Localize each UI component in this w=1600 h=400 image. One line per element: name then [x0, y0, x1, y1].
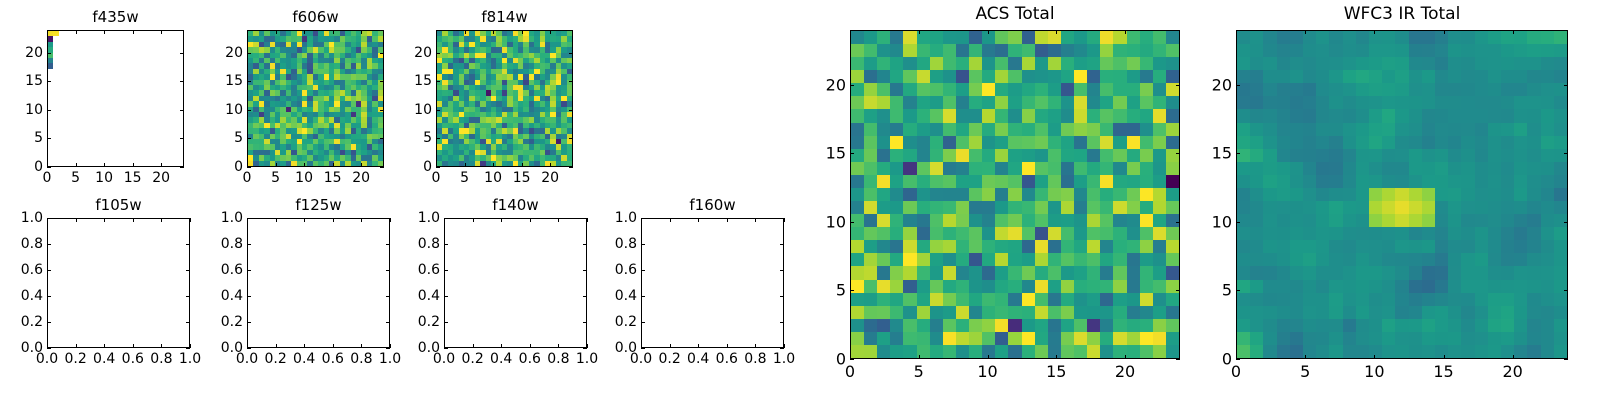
heat-cell [1435, 162, 1448, 175]
heat-cell [1087, 188, 1100, 201]
heat-cell [1061, 31, 1074, 44]
y-tick-mark-right [386, 244, 390, 245]
heat-cell [1527, 266, 1540, 279]
heat-cell [864, 227, 877, 240]
heat-cell [1035, 293, 1048, 306]
y-tick-mark-right [1564, 290, 1568, 291]
heat-cell [943, 175, 956, 188]
heat-cell [1329, 306, 1342, 319]
heat-cell [1303, 306, 1316, 319]
heat-cell [1382, 31, 1395, 44]
x-tick-mark-top [850, 30, 851, 34]
y-tick-mark [444, 244, 448, 245]
heat-cell [1074, 123, 1087, 136]
x-tick-mark [1374, 355, 1375, 359]
heat-cell [1303, 188, 1316, 201]
heat-cell [1448, 188, 1461, 201]
heat-cell [1061, 266, 1074, 279]
heat-cell [1356, 149, 1369, 162]
heat-cell [982, 175, 995, 188]
heat-cell [1409, 214, 1422, 227]
heat-cell [1263, 136, 1276, 149]
heat-cell [1554, 201, 1567, 214]
y-tick-mark [641, 244, 645, 245]
heat-cell [1008, 227, 1021, 240]
heat-cell [1369, 123, 1382, 136]
heat-cell [956, 149, 969, 162]
heat-cell [1166, 227, 1179, 240]
heat-cell [1382, 83, 1395, 96]
heat-cell [1514, 319, 1527, 332]
y-tick-label: 0.0 [21, 340, 43, 356]
heat-cell [1461, 136, 1474, 149]
heat-cell [982, 70, 995, 83]
heat-cell [1100, 188, 1113, 201]
x-tick-mark [133, 344, 134, 348]
heat-cell [930, 175, 943, 188]
heat-cell [1303, 109, 1316, 122]
axes-f814w[interactable] [436, 30, 573, 167]
panel-f160w: f160w 0.00.20.40.60.81.00.00.20.40.60.81… [641, 196, 784, 376]
heat-cell [1113, 188, 1126, 201]
heat-cell [1435, 240, 1448, 253]
y-tick-label: 0.4 [418, 288, 440, 304]
y-tick-label: 0 [234, 159, 243, 175]
heat-cell [1475, 319, 1488, 332]
y-tick-label: 5 [423, 130, 432, 146]
heat-cell [1356, 201, 1369, 214]
heat-cell [1250, 44, 1263, 57]
heat-cell [1501, 136, 1514, 149]
heat-cell [982, 227, 995, 240]
heat-cell [930, 31, 943, 44]
heat-cell [1369, 175, 1382, 188]
y-tick-mark [850, 359, 854, 360]
heat-cell [1237, 227, 1250, 240]
heat-cell [1048, 319, 1061, 332]
y-tick-label: 5 [34, 130, 43, 146]
heat-cell [1541, 70, 1554, 83]
heat-cell [1554, 96, 1567, 109]
heat-cell [1409, 253, 1422, 266]
heat-cell [1127, 280, 1140, 293]
heat-cell [1541, 149, 1554, 162]
heat-cell [1554, 57, 1567, 70]
heat-cell [1087, 175, 1100, 188]
heat-cell [1409, 109, 1422, 122]
heat-cell [930, 201, 943, 214]
heat-cell [1475, 214, 1488, 227]
y-tick-mark-right [1564, 222, 1568, 223]
y-tick-label: 0.4 [221, 288, 243, 304]
y-tick-label: 1.0 [615, 210, 637, 226]
heat-cell [1448, 175, 1461, 188]
x-tick-label: 0.8 [350, 351, 372, 367]
heat-cell [1008, 345, 1021, 358]
heat-cell [1501, 83, 1514, 96]
heat-cell [1488, 345, 1501, 358]
heat-cell [1087, 96, 1100, 109]
x-tick-label: 5 [71, 170, 80, 186]
heat-cell [1113, 240, 1126, 253]
heat-cell [1501, 44, 1514, 57]
heat-cell [1316, 266, 1329, 279]
y-tick-label: 0.8 [21, 236, 43, 252]
heat-cell [1329, 57, 1342, 70]
heat-cell [1061, 227, 1074, 240]
heat-cell [903, 96, 916, 109]
heat-cell [1422, 83, 1435, 96]
heat-cell [1237, 253, 1250, 266]
heat-cell [1541, 240, 1554, 253]
heat-cell [1100, 201, 1113, 214]
heat-cell [1422, 123, 1435, 136]
heat-cell [877, 345, 890, 358]
heat-cell [1501, 306, 1514, 319]
heat-cell [1303, 240, 1316, 253]
heat-cell [1303, 44, 1316, 57]
heat-cell [1554, 31, 1567, 44]
y-tick-mark-right [380, 110, 384, 111]
heat-cell [1409, 227, 1422, 240]
heat-cell [1140, 201, 1153, 214]
heat-cell [956, 44, 969, 57]
heat-cell [1250, 70, 1263, 83]
heat-cell [1369, 266, 1382, 279]
heat-cell [877, 188, 890, 201]
heat-cell [1488, 162, 1501, 175]
heat-cell [1475, 188, 1488, 201]
heat-cell [1237, 162, 1250, 175]
heat-cell [917, 44, 930, 57]
x-tick-mark-top [1374, 30, 1375, 34]
heat-cell [1541, 57, 1554, 70]
heat-cell [1369, 109, 1382, 122]
heat-cell [1461, 149, 1474, 162]
panel-acs-total: ACS Total 0510152005101520 [850, 4, 1180, 384]
heat-cell [1475, 240, 1488, 253]
axes-f435w[interactable] [47, 30, 184, 167]
heat-cell [1382, 201, 1395, 214]
heat-cell [1343, 149, 1356, 162]
heat-cell [969, 136, 982, 149]
x-tick-mark [190, 344, 191, 348]
heat-cell [1369, 188, 1382, 201]
axes-f160w[interactable] [641, 218, 784, 348]
heat-cell [943, 162, 956, 175]
heat-cell [1488, 70, 1501, 83]
heat-cell [1237, 201, 1250, 214]
heat-cell [1316, 175, 1329, 188]
heat-cell [1422, 345, 1435, 358]
x-tick-mark [919, 355, 920, 359]
heat-cell [1343, 123, 1356, 136]
heat-cell [851, 201, 864, 214]
x-tick-mark [361, 163, 362, 167]
heat-cell [890, 70, 903, 83]
x-tick-mark [104, 344, 105, 348]
heat-cell [1475, 96, 1488, 109]
x-tick-mark-top [1513, 30, 1514, 34]
heat-cell [1022, 227, 1035, 240]
x-tick-mark [161, 344, 162, 348]
heat-cell [1140, 44, 1153, 57]
heat-cell [1263, 306, 1276, 319]
heat-cell [1514, 136, 1527, 149]
heat-cell [1127, 332, 1140, 345]
heat-cell [890, 332, 903, 345]
heat-cell [1422, 96, 1435, 109]
heat-cell [1087, 306, 1100, 319]
x-tick-mark-top [333, 218, 334, 222]
heat-cell [1140, 109, 1153, 122]
heat-cell [1061, 162, 1074, 175]
y-tick-mark [850, 85, 854, 86]
heat-cell [1008, 253, 1021, 266]
heat-cell [995, 227, 1008, 240]
heat-cell [1329, 188, 1342, 201]
heat-cell [864, 149, 877, 162]
heat-cell [890, 149, 903, 162]
panel-title-f435w: f435w [47, 8, 184, 26]
heat-cell [917, 280, 930, 293]
heat-cell [1100, 266, 1113, 279]
heat-cell [995, 149, 1008, 162]
heat-cell [1290, 227, 1303, 240]
x-tick-label: 10 [295, 170, 313, 186]
heat-cell [1475, 31, 1488, 44]
heat-cell [1035, 345, 1048, 358]
heat-cell [1277, 136, 1290, 149]
y-tick-mark [247, 167, 251, 168]
panel-f814w: f814w 0510152005101520 [436, 8, 573, 180]
heat-cell [890, 345, 903, 358]
axes-wfc3-ir-total[interactable] [1236, 30, 1568, 359]
heat-cell [917, 306, 930, 319]
heat-cell [1475, 293, 1488, 306]
heat-cell [1329, 319, 1342, 332]
heat-cell [1409, 280, 1422, 293]
heat-cell [1277, 123, 1290, 136]
heat-cell [890, 188, 903, 201]
heat-cell [1448, 319, 1461, 332]
x-tick-label: 0.8 [744, 351, 766, 367]
heat-cell [851, 306, 864, 319]
x-tick-mark [522, 163, 523, 167]
heat-cell [982, 319, 995, 332]
image-f435w [48, 31, 183, 166]
heat-cell [1541, 214, 1554, 227]
panel-f435w: f435w 0510152005101520 [47, 8, 184, 180]
heat-cell [1356, 332, 1369, 345]
heat-cell [1448, 96, 1461, 109]
heat-cell [956, 188, 969, 201]
heat-cell [1008, 280, 1021, 293]
y-tick-mark [444, 296, 448, 297]
heat-cell [1127, 31, 1140, 44]
heat-cell [1061, 109, 1074, 122]
heat-cell [956, 332, 969, 345]
y-tick-mark [444, 348, 448, 349]
axes-f140w[interactable] [444, 218, 587, 348]
x-tick-mark-top [1444, 30, 1445, 34]
heat-cell [890, 253, 903, 266]
x-tick-label: 20 [541, 170, 559, 186]
heat-cell [1127, 57, 1140, 70]
y-tick-mark [47, 270, 51, 271]
heat-cell [1448, 266, 1461, 279]
x-tick-label: 0 [1231, 362, 1241, 381]
heat-cell [1316, 162, 1329, 175]
y-tick-label: 0 [34, 159, 43, 175]
heat-cell [1166, 214, 1179, 227]
heat-cell [1554, 293, 1567, 306]
x-tick-mark-top [465, 30, 466, 34]
heat-cell [1153, 293, 1166, 306]
heat-cell [917, 70, 930, 83]
x-tick-label: 10 [95, 170, 113, 186]
heat-cell [943, 70, 956, 83]
heat-cell [930, 44, 943, 57]
axes-f606w[interactable] [247, 30, 384, 167]
heat-cell [1237, 214, 1250, 227]
heat-cell [1409, 96, 1422, 109]
heat-cell [567, 161, 572, 166]
heat-cell [1514, 109, 1527, 122]
heat-cell [1382, 253, 1395, 266]
heat-cell [982, 109, 995, 122]
heat-cell [930, 227, 943, 240]
heat-cell [1448, 345, 1461, 358]
heat-cell [1140, 162, 1153, 175]
x-tick-mark [276, 344, 277, 348]
x-tick-label: 1.0 [576, 351, 598, 367]
heat-cell [1527, 345, 1540, 358]
heat-cell [995, 83, 1008, 96]
heat-cell [877, 57, 890, 70]
heat-cell [1541, 227, 1554, 240]
heat-cell [930, 136, 943, 149]
heat-cell [917, 266, 930, 279]
heat-cell [1488, 293, 1501, 306]
heat-cell [1074, 109, 1087, 122]
y-tick-mark-right [1176, 359, 1180, 360]
heat-cell [1048, 306, 1061, 319]
axes-f125w[interactable] [247, 218, 390, 348]
y-tick-mark [850, 153, 854, 154]
heat-cell [1140, 227, 1153, 240]
heat-cell [1316, 188, 1329, 201]
heat-cell [956, 280, 969, 293]
heat-cell [1008, 188, 1021, 201]
heat-cell [1382, 57, 1395, 70]
axes-f105w[interactable] [47, 218, 190, 348]
heat-cell [1166, 31, 1179, 44]
heat-cell [864, 109, 877, 122]
heat-cell [851, 70, 864, 83]
heat-cell [1100, 96, 1113, 109]
x-tick-mark-top [133, 218, 134, 222]
heat-cell [930, 319, 943, 332]
x-tick-mark-top [522, 30, 523, 34]
x-tick-mark-top [558, 218, 559, 222]
heat-cell [917, 240, 930, 253]
heat-cell [969, 188, 982, 201]
heat-cell [1554, 253, 1567, 266]
heat-cell [877, 136, 890, 149]
heat-cell [1048, 345, 1061, 358]
heat-cell [1488, 188, 1501, 201]
heat-cell [1140, 31, 1153, 44]
heat-cell [1488, 31, 1501, 44]
heat-cell [1422, 280, 1435, 293]
heat-cell [1113, 306, 1126, 319]
y-tick-mark [641, 218, 645, 219]
heat-cell [1448, 70, 1461, 83]
x-tick-mark [1305, 355, 1306, 359]
heat-cell [1554, 175, 1567, 188]
heat-cell [1448, 149, 1461, 162]
heat-cell [903, 306, 916, 319]
heat-cell [1527, 319, 1540, 332]
y-tick-mark [247, 81, 251, 82]
heat-cell [1554, 136, 1567, 149]
heat-cell [943, 57, 956, 70]
heat-cell [1074, 266, 1087, 279]
heat-cell [1250, 306, 1263, 319]
axes-acs-total[interactable] [850, 30, 1180, 359]
heat-cell [1461, 57, 1474, 70]
heat-cell [1461, 70, 1474, 83]
heat-cell [930, 293, 943, 306]
heat-cell [1237, 44, 1250, 57]
heat-cell [1435, 319, 1448, 332]
heat-cell [1087, 345, 1100, 358]
heat-cell [1527, 240, 1540, 253]
x-tick-mark-top [161, 30, 162, 34]
heat-cell [1022, 306, 1035, 319]
heat-cell [1501, 57, 1514, 70]
heat-cell [982, 214, 995, 227]
heat-cell [1541, 31, 1554, 44]
y-tick-label: 1.0 [221, 210, 243, 226]
heat-cell [1343, 96, 1356, 109]
heat-cell [1475, 253, 1488, 266]
heat-cell [1501, 266, 1514, 279]
heat-cell [1250, 280, 1263, 293]
heat-cell [1140, 136, 1153, 149]
heat-cell [1087, 83, 1100, 96]
heat-cell [1527, 214, 1540, 227]
heat-cell [1263, 83, 1276, 96]
heat-cell [1461, 253, 1474, 266]
heat-cell [1074, 240, 1087, 253]
heat-cell [1329, 96, 1342, 109]
y-tick-label: 0.4 [21, 288, 43, 304]
heat-cell [1166, 266, 1179, 279]
heat-cell [1277, 57, 1290, 70]
heat-cell [1395, 332, 1408, 345]
heat-cell [851, 214, 864, 227]
heat-cell [1422, 136, 1435, 149]
x-tick-label: 0.4 [293, 351, 315, 367]
heat-cell [1035, 227, 1048, 240]
heat-cell [1127, 175, 1140, 188]
y-tick-label: 10 [25, 102, 43, 118]
heat-cell [864, 280, 877, 293]
heat-cell [1316, 44, 1329, 57]
heat-cell [1263, 149, 1276, 162]
